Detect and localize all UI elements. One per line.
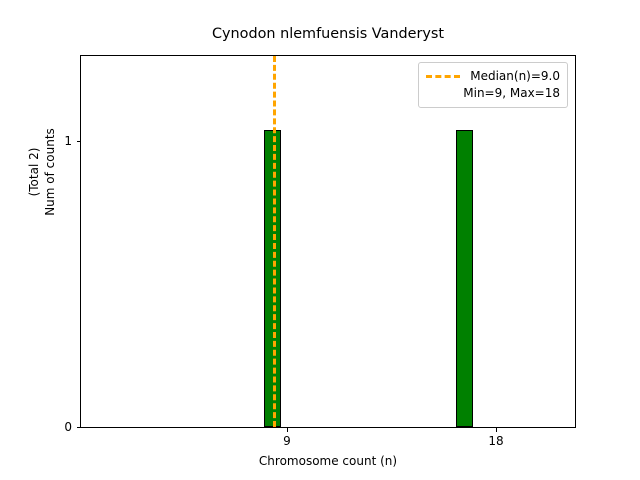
dashed-line-icon <box>426 75 460 78</box>
legend: Median(n)=9.0 Min=9, Max=18 <box>418 62 568 108</box>
page-title: Cynodon nlemfuensis Vanderyst <box>80 26 576 42</box>
xtick-mark-9 <box>287 428 288 432</box>
x-axis-label: Chromosome count (n) <box>80 454 576 468</box>
plot-area: Median(n)=9.0 Min=9, Max=18 <box>80 55 576 428</box>
bar-18 <box>456 130 473 427</box>
xtick-label-18: 18 <box>488 434 503 448</box>
xtick-label-9: 9 <box>283 434 291 448</box>
xtick-mark-18 <box>496 428 497 432</box>
y-axis-label: (Total 2) Num of counts <box>43 0 57 362</box>
ytick-label-1: 1 <box>64 135 72 147</box>
ytick-label-0: 0 <box>64 421 72 433</box>
median-line <box>273 56 276 427</box>
legend-label-minmax: Min=9, Max=18 <box>463 85 560 102</box>
y-axis-label-main: Num of counts <box>43 0 57 362</box>
legend-entry-minmax: Min=9, Max=18 <box>426 85 560 102</box>
legend-entry-median: Median(n)=9.0 <box>426 68 560 85</box>
chart-figure: Cynodon nlemfuensis Vanderyst 0 1 9 18 M… <box>0 0 640 480</box>
legend-label-median: Median(n)=9.0 <box>470 68 560 85</box>
y-axis-label-sub: (Total 2) <box>27 0 41 362</box>
